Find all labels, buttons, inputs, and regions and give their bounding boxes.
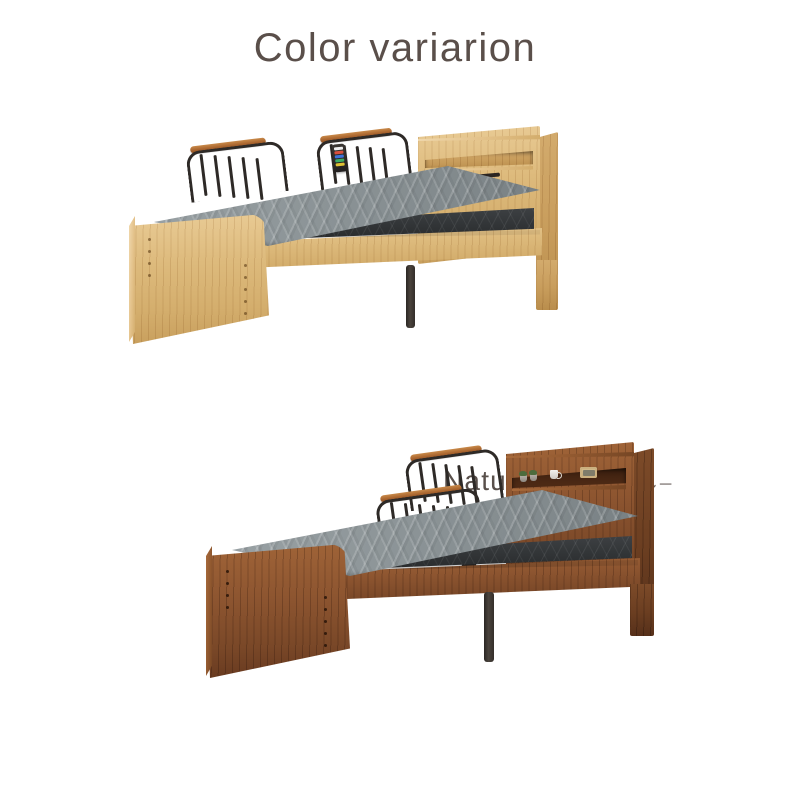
peg-hole <box>148 274 151 277</box>
side-rail-front-natural <box>188 142 286 200</box>
footboard-peg-holes-right <box>244 264 247 324</box>
peg-hole <box>244 300 247 303</box>
peg-hole <box>226 606 229 609</box>
remote-button[interactable] <box>336 163 345 167</box>
potted-plant-icon <box>520 475 527 482</box>
peg-hole <box>244 288 247 291</box>
headboard-foot-post-brown <box>630 584 654 636</box>
footboard-peg-holes-left <box>226 570 229 618</box>
peg-hole <box>244 312 247 315</box>
plant-foliage-icon <box>529 470 537 475</box>
shelf-prop-group <box>506 442 634 492</box>
center-leg-brown <box>484 592 494 662</box>
footboard-peg-holes-left <box>148 238 151 286</box>
desk-clock-icon <box>580 467 597 478</box>
footboard-left-edge <box>129 216 135 342</box>
peg-hole <box>324 608 327 611</box>
remote-buttons[interactable] <box>334 147 345 167</box>
plant-foliage-icon <box>519 471 527 476</box>
mug-handle-icon <box>557 472 562 479</box>
headboard-foot-post-natural <box>536 260 558 310</box>
peg-hole <box>324 644 327 647</box>
footboard-peg-holes-right <box>324 596 327 656</box>
bed-photo-brown <box>0 432 790 702</box>
clock-face <box>583 470 595 476</box>
peg-hole <box>226 582 229 585</box>
potted-plant-icon <box>530 474 537 481</box>
color-variation-page: Color variarion <box>0 0 790 790</box>
footboard-left-edge <box>206 546 212 676</box>
peg-hole <box>148 250 151 253</box>
peg-hole <box>244 264 247 267</box>
peg-hole <box>324 620 327 623</box>
bed-photo-natural <box>0 110 790 380</box>
variant-brown: Brown －ブラウン－ <box>0 432 790 722</box>
peg-hole <box>148 262 151 265</box>
peg-hole <box>324 596 327 599</box>
peg-hole <box>148 238 151 241</box>
variant-natural: Natural －ナチュラル－ <box>0 110 790 400</box>
peg-hole <box>324 632 327 635</box>
peg-hole <box>226 570 229 573</box>
center-leg-natural <box>406 265 415 328</box>
remote-control[interactable] <box>332 143 348 172</box>
peg-hole <box>244 276 247 279</box>
peg-hole <box>226 594 229 597</box>
page-title: Color variarion <box>0 26 790 71</box>
